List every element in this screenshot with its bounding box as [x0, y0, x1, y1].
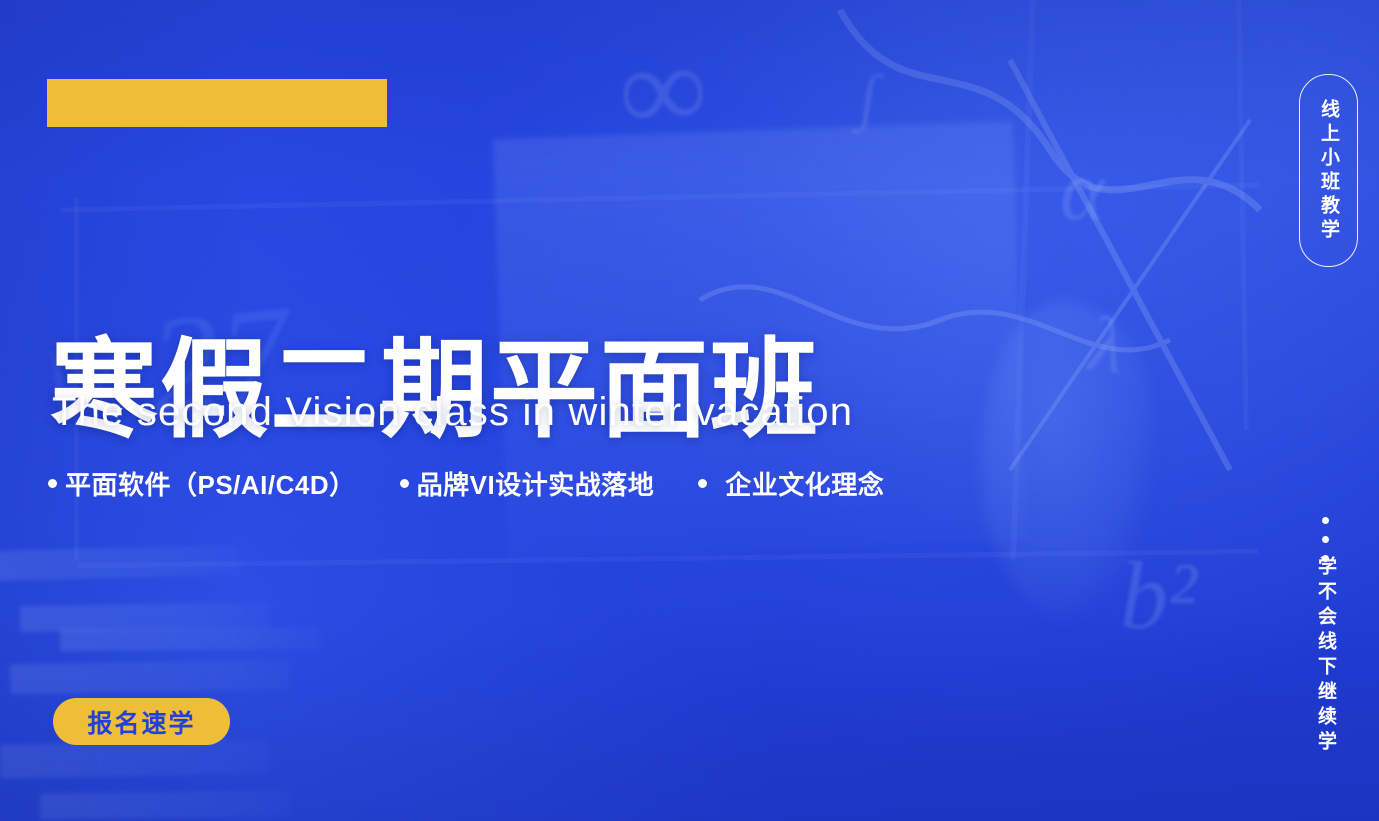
status-badge-label: 线上小班教学: [1319, 99, 1338, 243]
status-badge: 线上小班教学: [1299, 74, 1358, 267]
list-item: 企业文化理念: [698, 465, 884, 502]
feature-label: 企业文化理念: [725, 465, 884, 502]
feature-list: 平面软件（PS/AI/C4D） 品牌VI设计实战落地 企业文化理念: [48, 465, 884, 502]
accent-bar: [47, 79, 387, 127]
enroll-button[interactable]: 报名速学: [53, 698, 230, 745]
bullet-dot-icon: [400, 479, 409, 488]
list-item: 平面软件（PS/AI/C4D）: [48, 465, 356, 502]
banner-content: 寒假二期平面班 The second Vision class in winte…: [0, 0, 1379, 821]
feature-label: 品牌VI设计实战落地: [417, 465, 655, 502]
list-item: 品牌VI设计实战落地: [400, 465, 655, 502]
bullet-dot-icon: [48, 479, 57, 488]
side-slogan: 学不会线下继续学: [1316, 556, 1335, 756]
bullet-dot-icon: [698, 479, 707, 488]
promo-banner: ∞ α λ b² 27 W ∫ 寒假二期平面班 The second Visio…: [0, 0, 1379, 821]
feature-label: 平面软件（PS/AI/C4D）: [65, 465, 356, 502]
page-subtitle: The second Vision class in winter vacati…: [52, 392, 853, 432]
